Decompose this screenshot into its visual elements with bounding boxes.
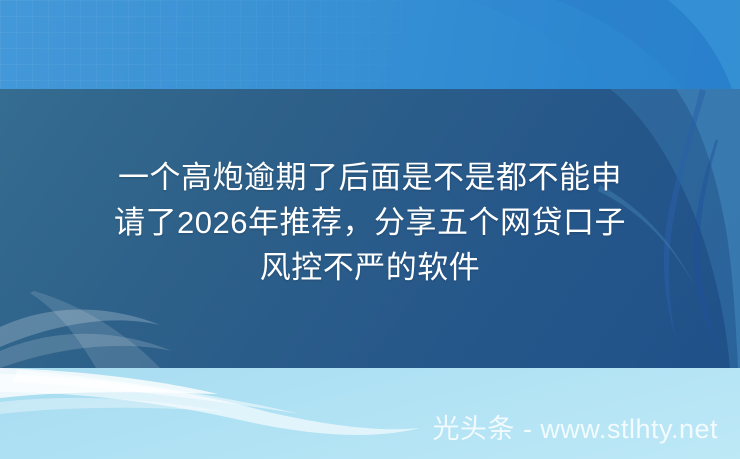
top-blue-band <box>0 0 740 89</box>
cover-title-text: 一个高炮逾期了后面是不是都不能申 请了2026年推荐，分享五个网贷口子 风控不严… <box>0 155 740 290</box>
site-watermark: 光头条 - www.stlhty.net <box>432 413 718 445</box>
cover-image-canvas: 一个高炮逾期了后面是不是都不能申 请了2026年推荐，分享五个网贷口子 风控不严… <box>0 0 740 459</box>
grid-pattern-overlay <box>0 0 740 89</box>
